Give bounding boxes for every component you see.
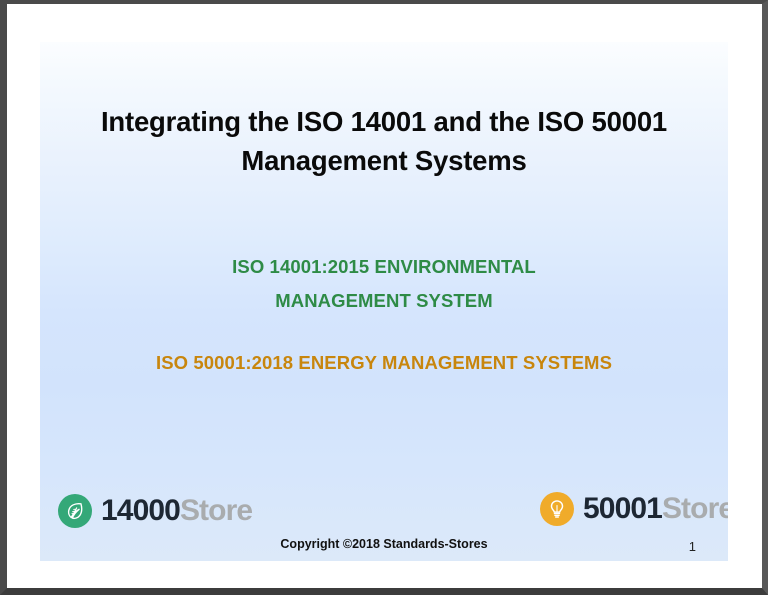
slide-viewer: Integrating the ISO 14001 and the ISO 50… <box>0 0 768 595</box>
leaf-icon <box>58 494 92 528</box>
lightbulb-icon <box>540 492 574 526</box>
logo-50001store: 50001Store <box>540 492 728 526</box>
slide-paper-margin: Integrating the ISO 14001 and the ISO 50… <box>7 4 762 588</box>
logo-14000store-text: 14000Store <box>101 496 252 526</box>
logo-14000store-number: 14000 <box>101 494 180 527</box>
standard-environmental-text: ISO 14001:2015 ENVIRONMENTAL MANAGEMENT … <box>64 250 704 318</box>
slide-title-line-2: Management Systems <box>64 141 704 180</box>
standard-environmental-line-1: ISO 14001:2015 ENVIRONMENTAL <box>64 250 704 284</box>
logo-14000store-suffix: Store <box>180 494 252 527</box>
logo-50001store-suffix: Store <box>662 492 728 525</box>
slide-title: Integrating the ISO 14001 and the ISO 50… <box>64 102 704 180</box>
logo-14000store: 14000Store <box>58 494 252 528</box>
standard-energy-line-1: ISO 50001:2018 ENERGY MANAGEMENT SYSTEMS <box>54 352 714 374</box>
logo-50001store-text: 50001Store <box>583 494 728 524</box>
presentation-slide: Integrating the ISO 14001 and the ISO 50… <box>40 42 728 561</box>
copyright-notice: Copyright ©2018 Standards-Stores <box>40 537 728 551</box>
logo-50001store-number: 50001 <box>583 492 662 525</box>
page-number: 1 <box>689 539 696 554</box>
slide-title-line-1: Integrating the ISO 14001 and the ISO 50… <box>64 102 704 141</box>
standard-environmental-line-2: MANAGEMENT SYSTEM <box>64 284 704 318</box>
standard-energy-text: ISO 50001:2018 ENERGY MANAGEMENT SYSTEMS <box>54 352 714 374</box>
